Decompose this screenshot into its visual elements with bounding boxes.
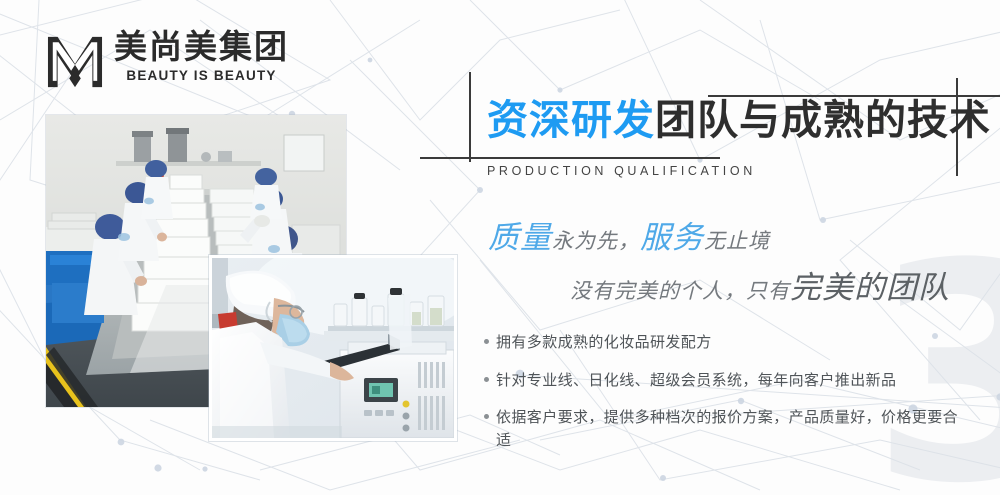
list-item-label: 依据客户要求，提供多种档次的报价方案，产品质量好，价格更要合适 <box>496 406 964 451</box>
slogan-1-seg-1: 质量 <box>488 220 552 256</box>
page-title: 资深研发团队与成熟的技术 <box>487 99 991 142</box>
slogan-line-1: 质量永为先，服务无止境 <box>488 212 770 257</box>
feature-list: 拥有多款成熟的化妆品研发配方 针对专业线、日化线、超级会员系统，每年向客户推出新… <box>484 331 964 466</box>
list-item: 拥有多款成熟的化妆品研发配方 <box>484 331 964 354</box>
bullet-dot-icon <box>484 377 489 382</box>
promo-banner: 3 <box>0 0 1000 495</box>
deco-line-vertical-left <box>469 72 471 162</box>
slogan-2-seg-1: 没有完美的个人，只有 <box>570 279 790 303</box>
brand-name-cn: 美尚美集团 <box>114 30 289 65</box>
slogan-line-2: 没有完美的个人，只有完美的团队 <box>570 262 950 307</box>
brand-logo: 美尚美集团 BEAUTY IS BEAUTY <box>46 30 289 90</box>
slogan-1-seg-2: 永为先， <box>552 229 640 253</box>
page-subtitle-en: PRODUCTION QUALIFICATION <box>487 164 756 178</box>
list-item: 针对专业线、日化线、超级会员系统，每年向客户推出新品 <box>484 369 964 392</box>
bullet-dot-icon <box>484 414 489 419</box>
slogan-2-seg-2: 完美的团队 <box>790 270 950 306</box>
laboratory-photo <box>212 258 454 438</box>
page-title-rest: 团队与成熟的技术 <box>655 96 991 144</box>
page-title-accent: 资深研发 <box>487 96 655 144</box>
list-item-label: 拥有多款成熟的化妆品研发配方 <box>496 331 712 354</box>
slogan-1-seg-4: 无止境 <box>704 229 770 253</box>
list-item: 依据客户要求，提供多种档次的报价方案，产品质量好，价格更要合适 <box>484 406 964 451</box>
list-item-label: 针对专业线、日化线、超级会员系统，每年向客户推出新品 <box>496 369 896 392</box>
brand-name-en: BEAUTY IS BEAUTY <box>114 68 289 83</box>
m-monogram-icon <box>46 34 104 90</box>
slogan-1-seg-3: 服务 <box>640 220 704 256</box>
deco-line-horizontal-left <box>420 157 720 159</box>
bullet-dot-icon <box>484 339 489 344</box>
